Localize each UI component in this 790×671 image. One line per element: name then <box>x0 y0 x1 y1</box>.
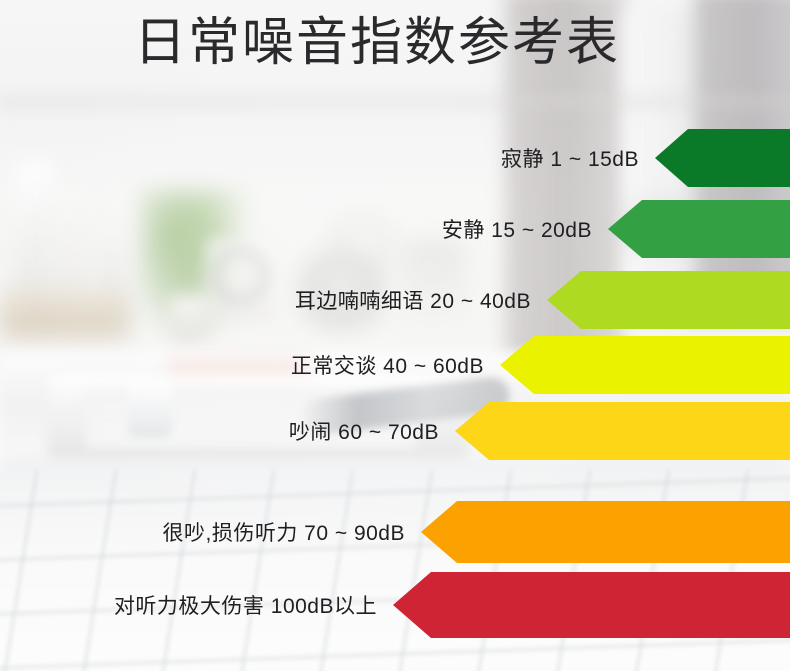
noise-level-label: 耳边喃喃细语 20 ~ 40dB <box>0 285 547 315</box>
noise-level-bar <box>655 129 790 187</box>
noise-level-bar <box>608 200 790 258</box>
noise-level-bar <box>421 501 790 563</box>
noise-level-row: 吵闹 60 ~ 70dB <box>0 402 790 460</box>
noise-level-infographic: 日常噪音指数参考表 寂静 1 ~ 15dB安静 15 ~ 20dB耳边喃喃细语 … <box>0 0 790 671</box>
noise-level-row: 正常交谈 40 ~ 60dB <box>0 336 790 394</box>
noise-level-row: 寂静 1 ~ 15dB <box>0 129 790 187</box>
noise-level-bar <box>547 271 790 329</box>
noise-level-label: 吵闹 60 ~ 70dB <box>0 416 455 446</box>
page-title: 日常噪音指数参考表 <box>0 14 754 74</box>
noise-level-row: 耳边喃喃细语 20 ~ 40dB <box>0 271 790 329</box>
noise-level-label: 寂静 1 ~ 15dB <box>0 143 655 173</box>
noise-level-label: 安静 15 ~ 20dB <box>0 214 608 244</box>
noise-level-bar <box>500 336 790 394</box>
noise-level-bar <box>455 402 790 460</box>
noise-level-row: 很吵,损伤听力 70 ~ 90dB <box>0 501 790 563</box>
noise-level-row: 安静 15 ~ 20dB <box>0 200 790 258</box>
noise-level-row: 对听力极大伤害 100dB以上 <box>0 572 790 638</box>
noise-level-label: 很吵,损伤听力 70 ~ 90dB <box>0 517 421 547</box>
noise-level-label: 对听力极大伤害 100dB以上 <box>0 590 393 620</box>
noise-level-bar <box>393 572 790 638</box>
noise-level-label: 正常交谈 40 ~ 60dB <box>0 350 500 380</box>
